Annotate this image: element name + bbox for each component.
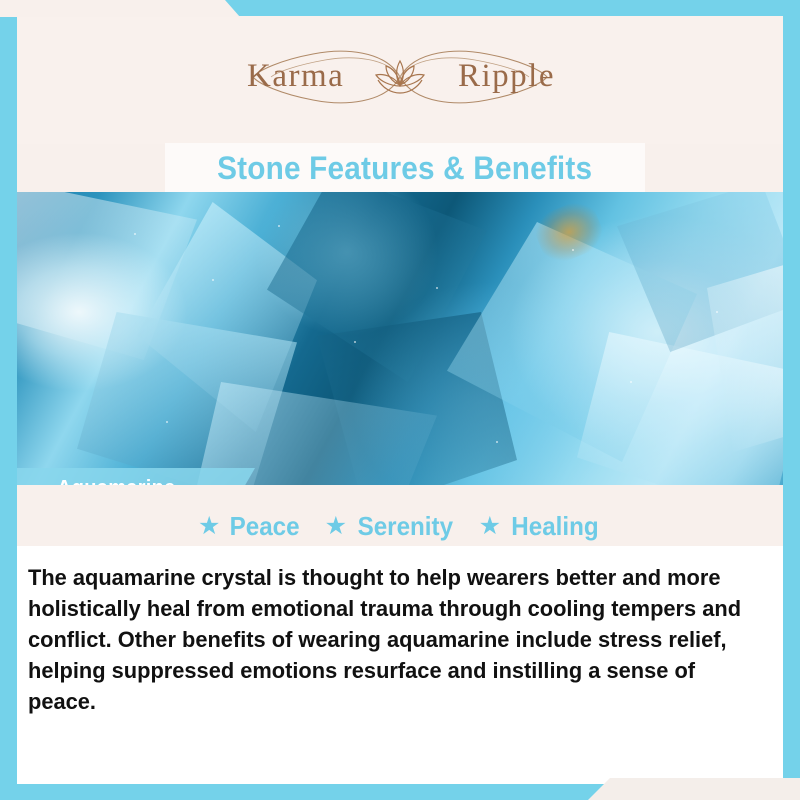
- benefit-label: Healing: [511, 511, 598, 542]
- crystal-sparkle-overlay: [17, 192, 783, 485]
- brand-logo: Karma Ripple: [235, 44, 565, 110]
- benefit-label: Serenity: [358, 511, 453, 542]
- bottom-right-corner-wedge: [588, 778, 800, 800]
- star-icon: ★: [198, 514, 220, 539]
- page-canvas: Karma Ripple Stone Features & Benefits A: [17, 16, 783, 784]
- description-paragraph: The aquamarine crystal is thought to hel…: [28, 562, 750, 717]
- star-icon: ★: [325, 514, 347, 539]
- benefits-row: ★ Peace ★ Serenity ★ Healing: [17, 506, 783, 546]
- title-banner: Stone Features & Benefits: [165, 143, 645, 193]
- stone-name-banner: Aquamarine: [17, 468, 255, 485]
- top-left-corner-wedge: [0, 0, 240, 17]
- brand-name-left: Karma: [247, 58, 344, 95]
- outer-blue-frame: Karma Ripple Stone Features & Benefits A: [0, 0, 800, 800]
- brand-name-right: Ripple: [458, 58, 555, 95]
- aquamarine-crystal-photo: Aquamarine: [17, 192, 783, 485]
- benefit-item-serenity: ★ Serenity: [325, 511, 457, 542]
- benefit-label: Peace: [230, 511, 300, 542]
- header-band: Karma Ripple: [17, 16, 783, 144]
- description-card: The aquamarine crystal is thought to hel…: [17, 546, 783, 784]
- benefit-item-peace: ★ Peace: [198, 511, 303, 542]
- star-icon: ★: [479, 514, 501, 539]
- stone-name-label: Aquamarine: [57, 477, 176, 486]
- page-title: Stone Features & Benefits: [217, 150, 592, 187]
- benefit-item-healing: ★ Healing: [479, 511, 602, 542]
- lotus-icon: [367, 55, 433, 99]
